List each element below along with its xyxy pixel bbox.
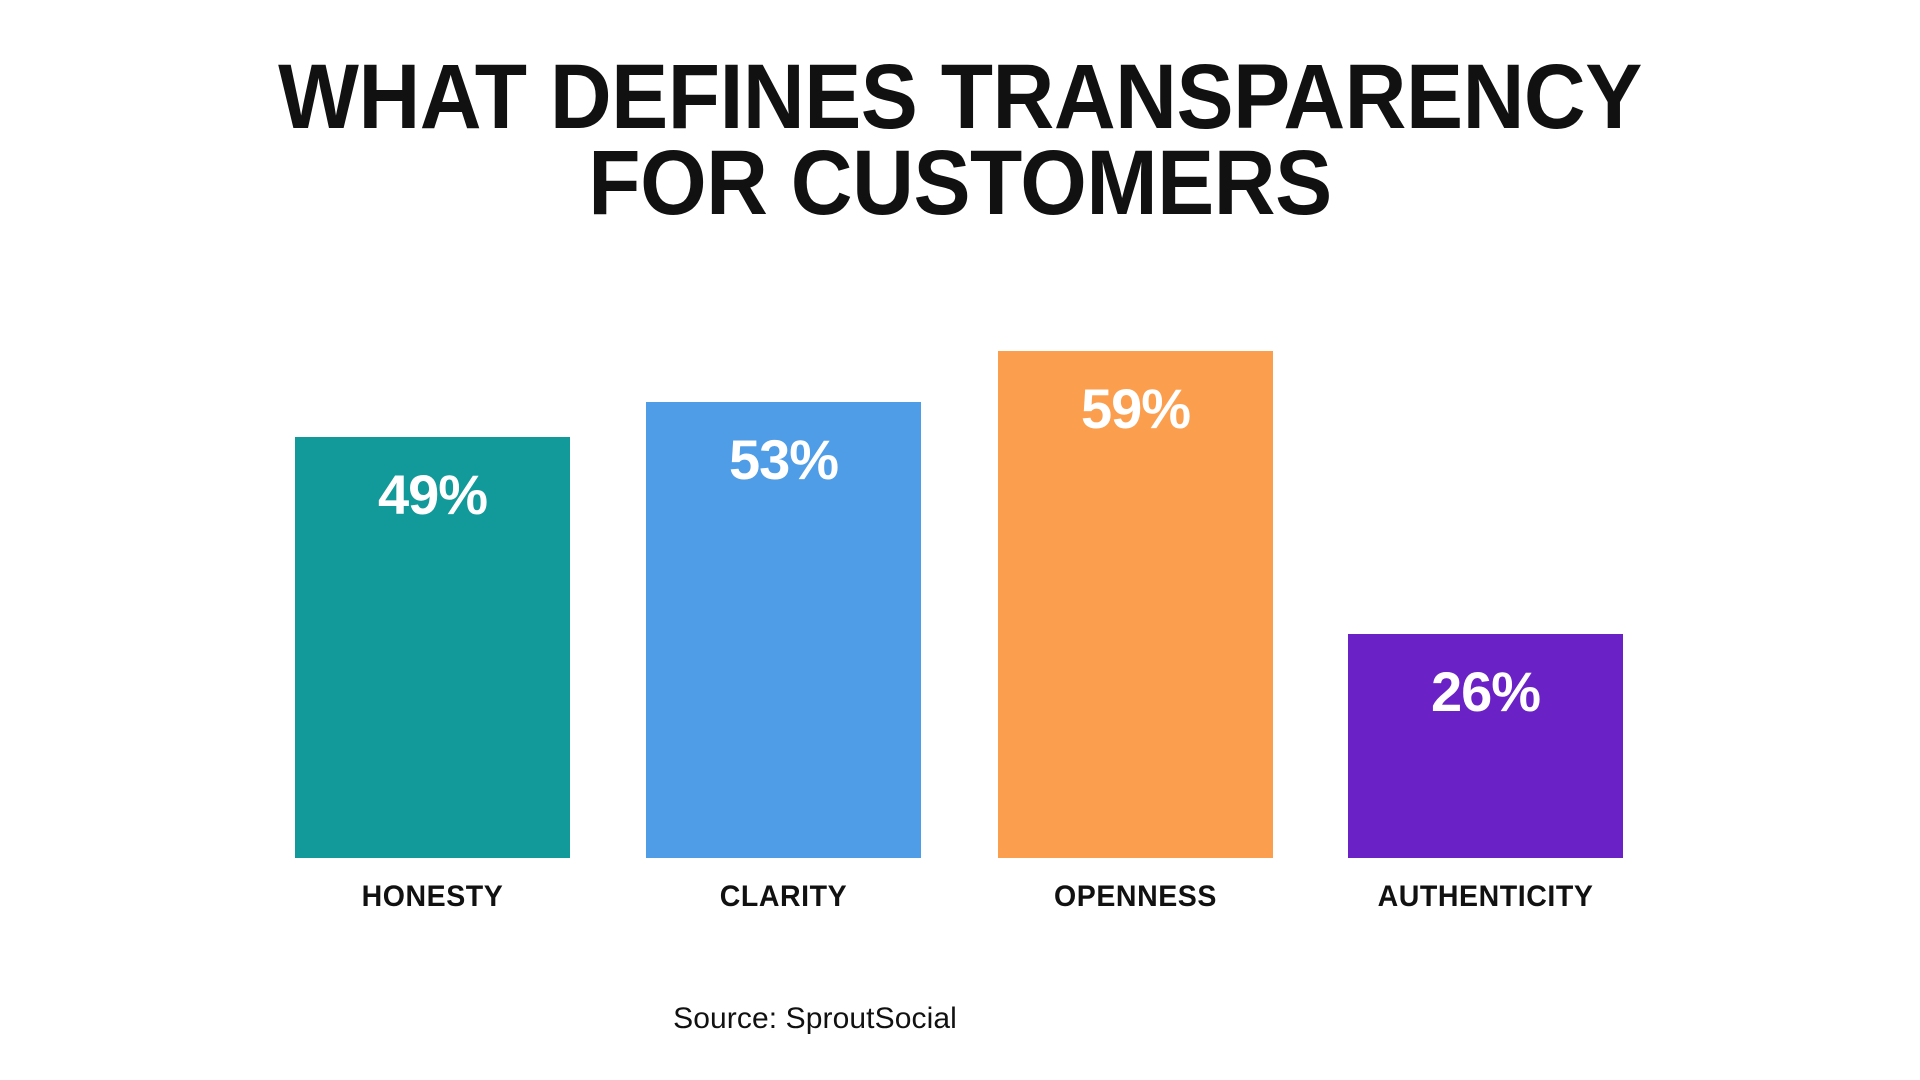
bar-authenticity[interactable]: 26% [1348, 634, 1623, 858]
infographic-canvas: WHAT DEFINES TRANSPARENCY FOR CUSTOMERS … [0, 0, 1920, 1080]
bar-value-openness: 59% [998, 381, 1273, 437]
title-line-2: FOR CUSTOMERS [67, 140, 1853, 226]
bar-value-authenticity: 26% [1348, 664, 1623, 720]
bar-group-honesty: 49% HONESTY [295, 280, 570, 858]
bar-label-openness: OPENNESS [976, 880, 1294, 914]
bar-chart-plot-area: 49% HONESTY 53% CLARITY 59% OPENNESS 26%… [295, 280, 1625, 858]
bar-value-clarity: 53% [646, 432, 921, 488]
bar-openness[interactable]: 59% [998, 351, 1273, 858]
bar-group-authenticity: 26% AUTHENTICITY [1348, 280, 1623, 858]
bar-group-openness: 59% OPENNESS [998, 280, 1273, 858]
bar-honesty[interactable]: 49% [295, 437, 570, 858]
bar-group-clarity: 53% CLARITY [646, 280, 921, 858]
bar-label-clarity: CLARITY [624, 880, 942, 914]
bar-clarity[interactable]: 53% [646, 402, 921, 858]
source-attribution: Source: SproutSocial [0, 1002, 1630, 1036]
bar-label-authenticity: AUTHENTICITY [1326, 880, 1644, 914]
page-title: WHAT DEFINES TRANSPARENCY FOR CUSTOMERS [0, 54, 1920, 227]
bar-label-honesty: HONESTY [273, 880, 591, 914]
title-line-1: WHAT DEFINES TRANSPARENCY [67, 54, 1853, 140]
bar-value-honesty: 49% [295, 467, 570, 523]
